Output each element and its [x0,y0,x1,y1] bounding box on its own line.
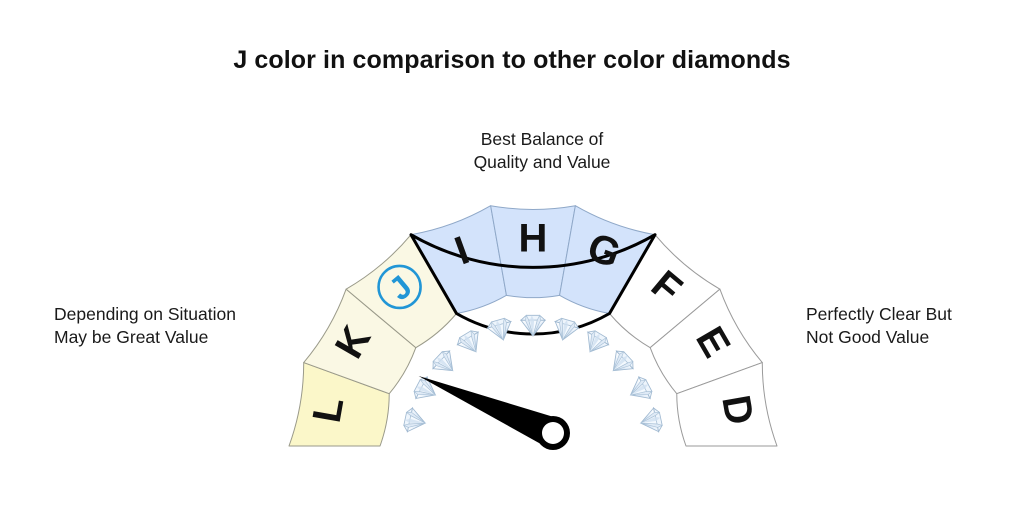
gem-icon [638,407,663,435]
gem-icon [455,328,486,358]
gem-icon [486,317,515,343]
color-grade-gauge: LKIHGFED J [0,0,1024,524]
needle-hub-inner [542,422,564,444]
gauge-needle [419,376,570,450]
gem-icon [429,348,461,380]
infographic-canvas: J color in comparison to other color dia… [0,0,1024,524]
gem-icon [551,317,580,343]
gem-icon [605,348,637,380]
gem-icon [625,375,654,406]
gem-icon [403,407,428,435]
segment-letter-h: H [519,216,548,260]
gem-icon [580,328,611,358]
